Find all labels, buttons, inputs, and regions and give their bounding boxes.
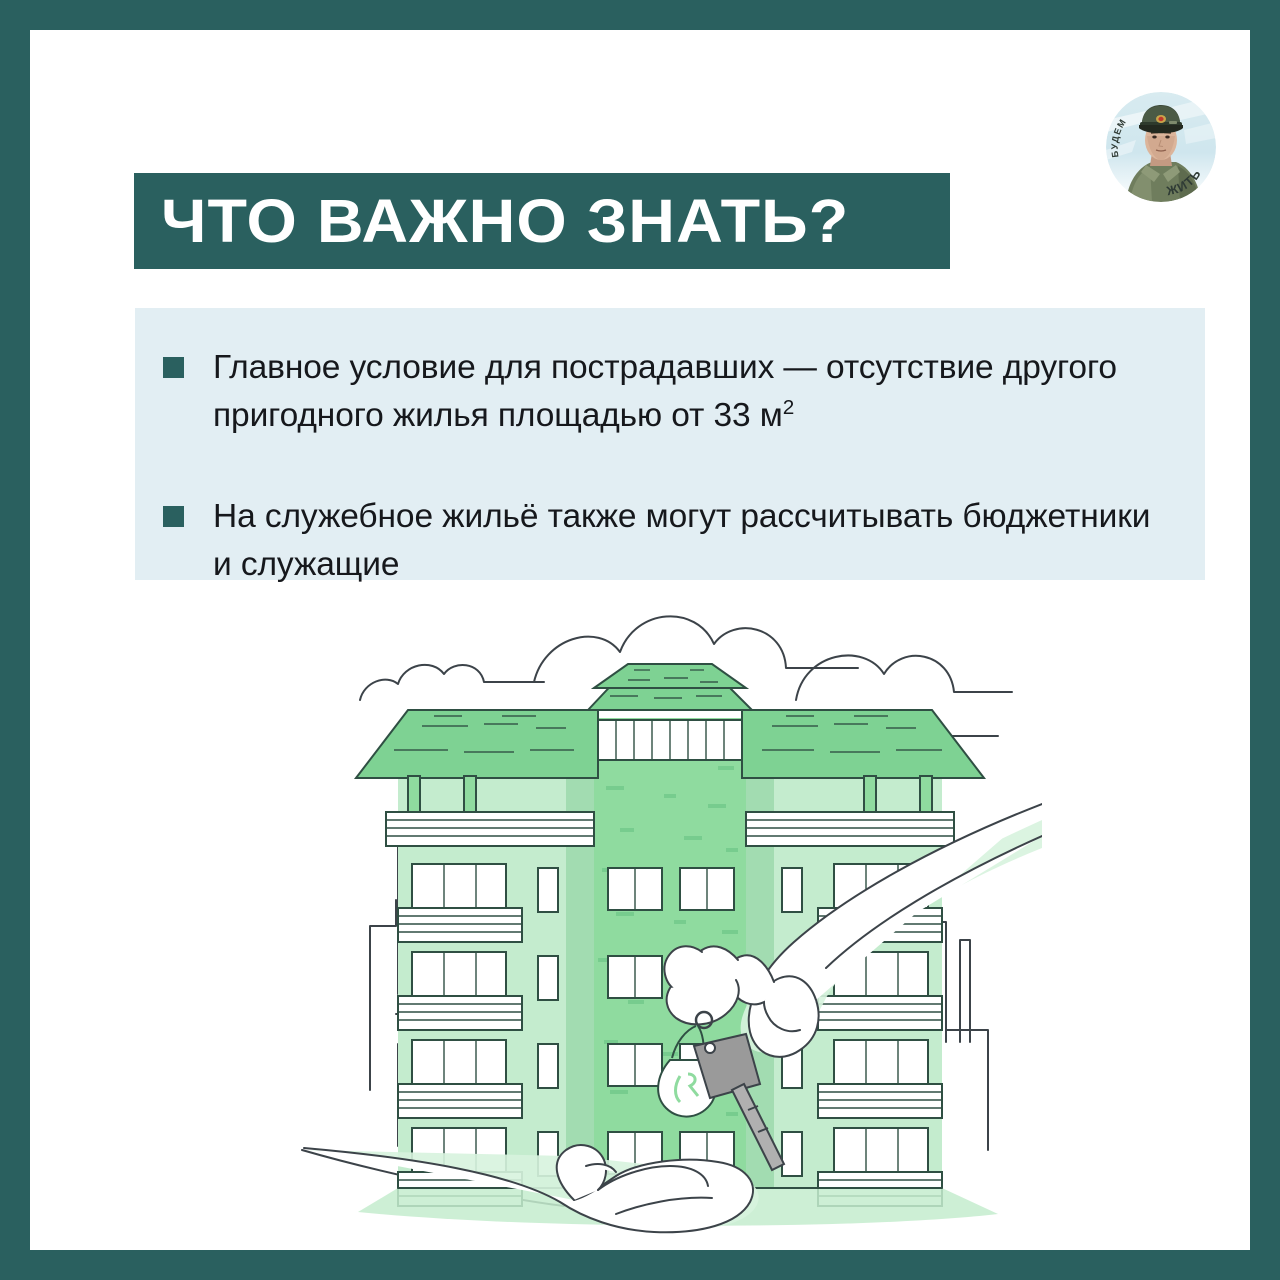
apartment-building-keys-handover-illustration: .ln { fill:none; stroke:#3c4349; stroke-… (298, 590, 1042, 1270)
apartment-building (356, 664, 998, 1226)
poster-root: БУДЕМ ЖИТЬ ЧТО ВАЖНО ЗНАТЬ? Главное усло… (0, 0, 1280, 1280)
bullet-text-2-main: На служебное жильё также могут рассчитыв… (213, 498, 1150, 583)
poster-card: БУДЕМ ЖИТЬ ЧТО ВАЖНО ЗНАТЬ? Главное усло… (30, 30, 1250, 1250)
bullet-square-icon (163, 357, 184, 378)
list-item: На служебное жильё также могут рассчитыв… (163, 493, 1171, 588)
terrace-railing-left (386, 812, 594, 846)
info-panel: Главное условие для пострадавших — отсут… (135, 308, 1205, 580)
terrace-railing-right (746, 812, 954, 846)
list-item: Главное условие для пострадавших — отсут… (163, 344, 1171, 439)
budem-zhit-logo: БУДЕМ ЖИТЬ (1106, 92, 1216, 202)
bullet-square-icon (163, 506, 184, 527)
bullet-text-2: На служебное жильё также могут рассчитыв… (213, 493, 1171, 588)
page-title: ЧТО ВАЖНО ЗНАТЬ? (161, 191, 849, 252)
bullet-text-1-superscript: 2 (783, 395, 794, 418)
title-banner: ЧТО ВАЖНО ЗНАТЬ? (134, 173, 950, 269)
bullet-text-1: Главное условие для пострадавших — отсут… (213, 344, 1171, 439)
bullet-text-1-main: Главное условие для пострадавших — отсут… (213, 349, 1117, 434)
